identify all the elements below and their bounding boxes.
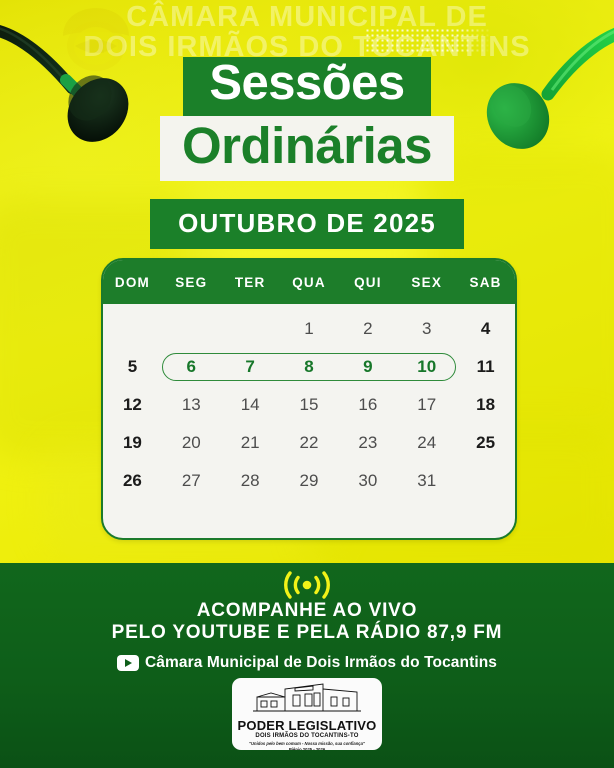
calendar-week-row: 262728293031 [103, 462, 515, 500]
calendar-weekday-header: DOMSEGTERQUAQUISEXSAB [103, 260, 515, 304]
live-line-2: PELO YOUTUBE E PELA RÁDIO 87,9 FM [0, 622, 614, 644]
calendar-day[interactable]: 13 [162, 395, 221, 415]
calendar-grid: 1234567891011121314151617181920212223242… [103, 304, 515, 500]
month-band: OUTUBRO DE 2025 [150, 199, 464, 249]
calendar-day[interactable]: 31 [397, 471, 456, 491]
calendar-weekday-qua: QUA [280, 275, 339, 290]
youtube-channel-name: Câmara Municipal de Dois Irmãos do Tocan… [145, 654, 497, 672]
legislative-logo-title: PODER LEGISLATIVO [238, 719, 377, 732]
title-block: Sessões Ordinárias OUTUBRO DE 2025 [0, 57, 614, 249]
calendar-day[interactable]: 6 [162, 357, 221, 377]
calendar-day[interactable]: 21 [221, 433, 280, 453]
calendar-day[interactable]: 16 [338, 395, 397, 415]
calendar-card: DOMSEGTERQUAQUISEXSAB 123456789101112131… [101, 258, 517, 540]
calendar-weekday-dom: DOM [103, 275, 162, 290]
broadcast-icon [0, 571, 614, 599]
calendar-day[interactable]: 23 [338, 433, 397, 453]
calendar-weekday-ter: TER [221, 275, 280, 290]
calendar-day[interactable]: 8 [280, 357, 339, 377]
calendar-day[interactable]: 15 [280, 395, 339, 415]
youtube-channel-row[interactable]: Câmara Municipal de Dois Irmãos do Tocan… [0, 654, 614, 672]
calendar-day[interactable]: 5 [103, 357, 162, 377]
poster-canvas: CÂMARA MUNICIPAL DE DOIS IRMÃOS DO TOCAN… [0, 0, 614, 768]
calendar-day[interactable]: 25 [456, 433, 515, 453]
legislative-logo-mandate: Biênio 2025 - 2026 [289, 747, 325, 750]
calendar-day[interactable]: 27 [162, 471, 221, 491]
calendar-day[interactable]: 19 [103, 433, 162, 453]
calendar-day[interactable]: 4 [456, 319, 515, 339]
calendar-day[interactable]: 20 [162, 433, 221, 453]
title-line1: Sessões [183, 57, 430, 116]
title-line2-row: Ordinárias [0, 116, 614, 181]
calendar-day[interactable]: 22 [280, 433, 339, 453]
calendar-day[interactable]: 7 [221, 357, 280, 377]
calendar-week-row: 12131415161718 [103, 386, 515, 424]
title-line1-row: Sessões [0, 57, 614, 116]
calendar-day[interactable]: 11 [456, 357, 515, 377]
calendar-week-row: 19202122232425 [103, 424, 515, 462]
legislative-logo: PODER LEGISLATIVO DOIS IRMÃOS DO TOCANTI… [232, 678, 382, 750]
calendar-week-row: 1234 [103, 310, 515, 348]
live-line-1: ACOMPANHE AO VIVO [0, 600, 614, 622]
calendar-weekday-qui: QUI [338, 275, 397, 290]
legislative-logo-slogan: "Unidos pelo bem comum - Nossa missão, s… [249, 741, 365, 746]
calendar-week-row: 567891011 [103, 348, 515, 386]
calendar-day[interactable]: 30 [338, 471, 397, 491]
calendar-day[interactable]: 18 [456, 395, 515, 415]
calendar-weekday-sex: SEX [397, 275, 456, 290]
calendar-day[interactable]: 24 [397, 433, 456, 453]
calendar-weekday-sab: SAB [456, 275, 515, 290]
legislative-building-icon [251, 681, 363, 718]
calendar-day[interactable]: 17 [397, 395, 456, 415]
calendar-day[interactable]: 1 [280, 319, 339, 339]
calendar-day[interactable]: 29 [280, 471, 339, 491]
calendar-day[interactable]: 2 [338, 319, 397, 339]
calendar-day[interactable]: 3 [397, 319, 456, 339]
calendar-day[interactable]: 28 [221, 471, 280, 491]
calendar-weekday-seg: SEG [162, 275, 221, 290]
calendar-day[interactable]: 9 [338, 357, 397, 377]
legislative-logo-subtitle: DOIS IRMÃOS DO TOCANTINS-TO [255, 733, 358, 740]
calendar-day[interactable]: 26 [103, 471, 162, 491]
calendar-day[interactable]: 10 [397, 357, 456, 377]
calendar-day[interactable]: 12 [103, 395, 162, 415]
month-band-row: OUTUBRO DE 2025 [0, 181, 614, 249]
title-line2: Ordinárias [160, 116, 454, 181]
calendar-day[interactable]: 14 [221, 395, 280, 415]
youtube-icon[interactable] [117, 655, 139, 671]
